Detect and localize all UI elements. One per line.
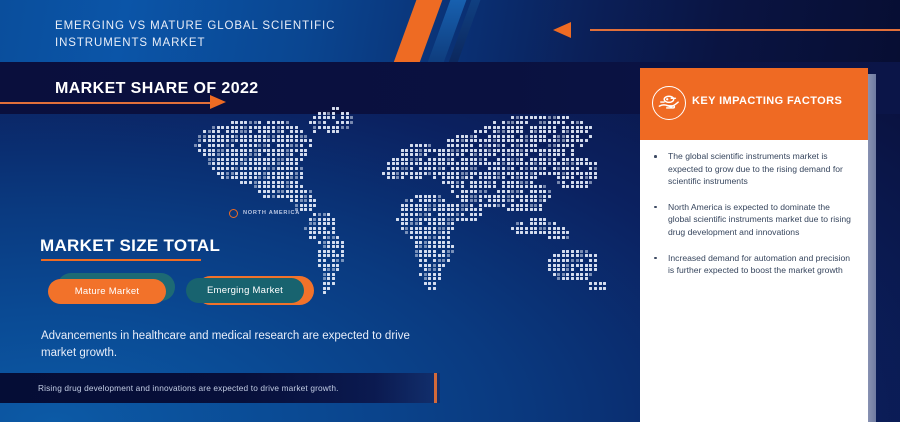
market-share-title: MARKET SHARE OF 2022 xyxy=(55,80,259,98)
map-region-label: NORTH AMERICA xyxy=(243,210,300,216)
list-item-text: Increased demand for automation and prec… xyxy=(668,252,852,277)
dotted-world-map xyxy=(180,98,630,298)
key-factors-list: The global scientific instruments market… xyxy=(652,150,852,290)
circle-marker-icon xyxy=(229,209,238,218)
bottom-banner-accent xyxy=(434,373,437,403)
market-size-title: MARKET SIZE TOTAL xyxy=(40,236,220,256)
header-bar: EMERGING VS MATURE GLOBAL SCIENTIFIC INS… xyxy=(0,0,900,62)
bullet-dot-icon xyxy=(654,257,657,260)
legend-emerging-market[interactable]: Emerging Market xyxy=(186,278,304,303)
advancement-note: Advancements in healthcare and medical r… xyxy=(41,328,441,362)
market-size-underline xyxy=(41,259,201,261)
bullet-dot-icon xyxy=(654,155,657,158)
bottom-banner-text: Rising drug development and innovations … xyxy=(38,383,339,393)
hand-holding-coin-icon xyxy=(652,86,686,120)
arrow-left-icon xyxy=(553,22,571,38)
header-arrow-line xyxy=(590,29,900,31)
legend-mature-market[interactable]: Mature Market xyxy=(48,279,166,304)
page-title: EMERGING VS MATURE GLOBAL SCIENTIFIC INS… xyxy=(55,18,385,52)
list-item: North America is expected to dominate th… xyxy=(652,201,852,239)
list-item: The global scientific instruments market… xyxy=(652,150,852,188)
infographic-canvas: EMERGING VS MATURE GLOBAL SCIENTIFIC INS… xyxy=(0,0,900,422)
bullet-dot-icon xyxy=(654,206,657,209)
list-item: Increased demand for automation and prec… xyxy=(652,252,852,277)
key-factors-title: KEY IMPACTING FACTORS xyxy=(692,95,842,107)
list-item-text: North America is expected to dominate th… xyxy=(668,201,852,239)
list-item-text: The global scientific instruments market… xyxy=(668,150,852,188)
